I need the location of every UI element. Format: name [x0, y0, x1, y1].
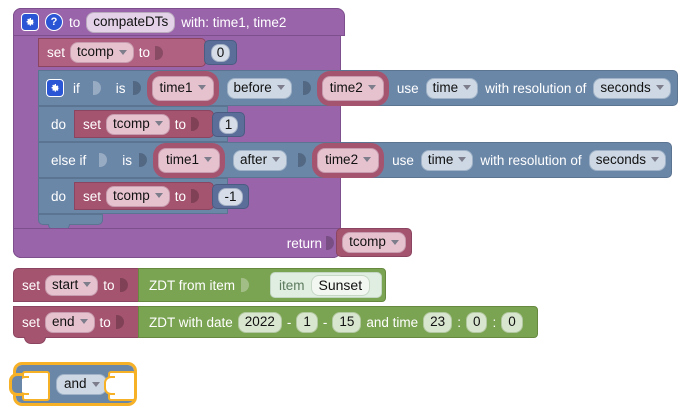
- variable-dropdown-tcomp[interactable]: tcomp: [106, 186, 170, 207]
- value-socket[interactable]: [191, 114, 199, 134]
- question-mark-glyph: ?: [51, 17, 58, 28]
- set-tcomp-minus-one-block[interactable]: set tcomp to: [74, 182, 214, 210]
- minute-field[interactable]: 0: [466, 312, 488, 333]
- use-label: use: [397, 81, 419, 96]
- to-label: to: [139, 45, 150, 60]
- return-variable-block[interactable]: tcomp: [336, 228, 412, 257]
- chevron-down-icon: [272, 157, 280, 162]
- operator-value: after: [240, 152, 267, 168]
- variable-dropdown-tcomp[interactable]: tcomp: [70, 42, 134, 63]
- if-label: if: [73, 81, 80, 96]
- return-value-socket[interactable]: [326, 233, 334, 253]
- resolution-dropdown[interactable]: seconds: [589, 150, 666, 171]
- chevron-down-icon: [463, 85, 471, 90]
- variable-dropdown-start[interactable]: start: [45, 275, 98, 296]
- use-dropdown[interactable]: time: [426, 78, 479, 99]
- date-separator-2: -: [323, 315, 328, 330]
- item-socket[interactable]: [241, 275, 249, 295]
- set-end-bottom-bump: [24, 337, 46, 344]
- set-tcomp-zero-block[interactable]: set tcomp to: [38, 38, 206, 67]
- if-block-row-if[interactable]: if is time1 before time2 use time with r…: [38, 70, 678, 106]
- set-tcomp-one-block[interactable]: set tcomp to: [74, 110, 214, 138]
- variable-name: end: [52, 314, 75, 330]
- to-label: to: [175, 189, 186, 204]
- to-label: to: [100, 315, 111, 330]
- and-block-output-plug: [9, 373, 22, 396]
- set-end-block[interactable]: set end to: [13, 306, 141, 338]
- procedure-to-label: to: [69, 15, 80, 30]
- variable-dropdown-tcomp[interactable]: tcomp: [342, 232, 406, 253]
- if-condition-socket[interactable]: [93, 78, 101, 98]
- chevron-down-icon: [368, 85, 376, 90]
- zdt-date-label: ZDT with date: [149, 315, 233, 330]
- chevron-down-icon: [92, 382, 100, 387]
- year-field[interactable]: 2022: [238, 312, 282, 333]
- variable-name: time1: [166, 152, 199, 168]
- to-label: to: [103, 278, 114, 293]
- number-block-minus-one[interactable]: -1: [212, 184, 249, 209]
- variable-name: tcomp: [349, 234, 386, 250]
- item-block[interactable]: item Sunset: [270, 272, 382, 298]
- variable-name: start: [52, 277, 78, 293]
- resolution-label: with resolution of: [480, 153, 581, 168]
- number-field[interactable]: 0: [211, 44, 231, 62]
- resolution-dropdown[interactable]: seconds: [593, 78, 670, 99]
- elseif-condition-socket[interactable]: [99, 150, 107, 170]
- variable-name: time2: [325, 152, 358, 168]
- zdt-with-date-block[interactable]: ZDT with date 2022 - 1 - 15 and time 23 …: [138, 306, 538, 338]
- procedure-header[interactable]: ? to compateDTs with: time1, time2: [13, 8, 345, 36]
- chevron-down-icon: [363, 157, 371, 162]
- number-field[interactable]: -1: [218, 188, 242, 206]
- else-if-label: else if: [51, 153, 86, 168]
- chevron-down-icon: [155, 193, 163, 198]
- chevron-down-icon: [651, 157, 659, 162]
- and-block[interactable]: and: [16, 365, 134, 403]
- compare-left-socket[interactable]: [139, 150, 147, 170]
- procedure-name-field[interactable]: compateDTs: [86, 12, 175, 33]
- value-socket[interactable]: [155, 43, 163, 63]
- set-label: set: [83, 117, 101, 132]
- zdt-from-item-label: ZDT from item: [149, 278, 235, 293]
- number-field[interactable]: 1: [219, 116, 239, 134]
- comparison-operator-dropdown[interactable]: before: [227, 78, 292, 99]
- chevron-down-icon: [80, 319, 88, 324]
- set-label: set: [22, 315, 40, 330]
- if-block-row-elseif[interactable]: else if is time1 after time2 use time wi…: [38, 142, 672, 178]
- blockly-workspace[interactable]: ? to compateDTs with: time1, time2 set t…: [0, 0, 690, 411]
- compare-right-socket[interactable]: [303, 78, 311, 98]
- variable-dropdown-time2[interactable]: time2: [317, 148, 379, 173]
- use-value: time: [428, 152, 454, 168]
- use-value: time: [433, 80, 459, 96]
- do-label: do: [51, 117, 66, 132]
- use-label: use: [392, 153, 414, 168]
- set-label: set: [22, 278, 40, 293]
- compare-is-label: is: [116, 81, 126, 96]
- do-label: do: [51, 189, 66, 204]
- and-right-socket-notch: [104, 376, 115, 395]
- chevron-down-icon: [277, 85, 285, 90]
- procedure-return-row[interactable]: return: [13, 228, 341, 258]
- compare-right-socket[interactable]: [298, 150, 306, 170]
- variable-name: tcomp: [77, 44, 114, 60]
- chevron-down-icon: [83, 282, 91, 287]
- variable-name: time1: [160, 80, 193, 96]
- resolution-value: seconds: [600, 80, 650, 96]
- date-separator-1: -: [287, 315, 292, 330]
- variable-dropdown-time1[interactable]: time1: [152, 76, 214, 101]
- item-label: item: [279, 278, 305, 293]
- gear-icon[interactable]: [46, 79, 64, 97]
- number-block-one[interactable]: 1: [212, 112, 245, 137]
- compare-left-socket[interactable]: [133, 78, 141, 98]
- set-label: set: [47, 45, 65, 60]
- return-label: return: [287, 236, 322, 251]
- and-operator-dropdown[interactable]: and: [56, 374, 107, 395]
- set-start-block[interactable]: set start to: [13, 268, 141, 302]
- comparison-operator-dropdown[interactable]: after: [233, 150, 287, 171]
- operator-value: and: [64, 376, 87, 392]
- chevron-down-icon: [198, 85, 206, 90]
- variable-name: tcomp: [113, 188, 150, 204]
- use-dropdown[interactable]: time: [421, 150, 474, 171]
- value-socket[interactable]: [120, 275, 128, 295]
- chevron-down-icon: [656, 85, 664, 90]
- chevron-down-icon: [391, 240, 399, 245]
- to-label: to: [175, 117, 186, 132]
- resolution-value: seconds: [596, 152, 646, 168]
- time-separator-2: :: [492, 315, 496, 330]
- gear-icon[interactable]: [21, 13, 39, 31]
- value-socket[interactable]: [116, 312, 124, 332]
- zdt-time-label: and time: [366, 315, 418, 330]
- second-field[interactable]: 0: [501, 312, 523, 333]
- chevron-down-icon: [458, 157, 466, 162]
- month-field[interactable]: 1: [296, 312, 318, 333]
- set-label: set: [83, 189, 101, 204]
- variable-dropdown-time2[interactable]: time2: [322, 76, 384, 101]
- hour-field[interactable]: 23: [423, 312, 452, 333]
- time-separator-1: :: [457, 315, 461, 330]
- variable-dropdown-time1[interactable]: time1: [158, 148, 220, 173]
- chevron-down-icon: [155, 121, 163, 126]
- resolution-label: with resolution of: [485, 81, 586, 96]
- value-socket[interactable]: [191, 186, 199, 206]
- operator-value: before: [234, 80, 272, 96]
- question-mark-icon[interactable]: ?: [45, 13, 63, 31]
- procedure-params-label: with: time1, time2: [181, 15, 286, 30]
- item-name-field[interactable]: Sunset: [311, 275, 371, 296]
- variable-name: time2: [330, 80, 363, 96]
- chevron-down-icon: [119, 50, 127, 55]
- variable-name: tcomp: [113, 116, 150, 132]
- variable-dropdown-tcomp[interactable]: tcomp: [106, 114, 170, 135]
- variable-dropdown-end[interactable]: end: [45, 312, 95, 333]
- chevron-down-icon: [204, 157, 212, 162]
- day-field[interactable]: 15: [332, 312, 361, 333]
- number-block-zero[interactable]: 0: [204, 40, 237, 65]
- compare-is-label: is: [122, 153, 132, 168]
